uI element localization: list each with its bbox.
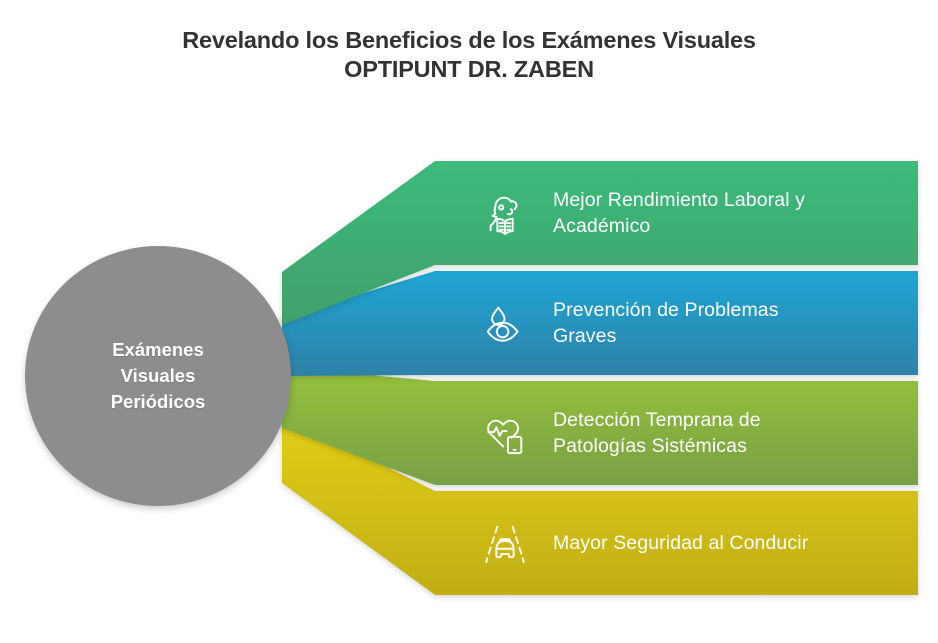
branch-item-2[interactable]: Prevención de Problemas Graves [435, 271, 918, 375]
center-circle[interactable]: Exámenes Visuales Periódicos [25, 246, 291, 506]
eye-droplet-icon [482, 300, 528, 346]
branch-item-3[interactable]: Detección Temprana de Patologías Sistémi… [435, 381, 918, 485]
car-road-icon [482, 520, 528, 566]
branch-label-2: Prevención de Problemas Graves [553, 297, 779, 349]
branch-item-4[interactable]: Mayor Seguridad al Conducir [435, 491, 918, 595]
funnel-diagram: Exámenes Visuales Periódicos Mejor Rendi… [0, 0, 938, 643]
branch-item-1[interactable]: Mejor Rendimiento Laboral y Académico [435, 161, 918, 265]
branch-label-3: Detección Temprana de Patologías Sistémi… [553, 407, 761, 459]
branch-label-1: Mejor Rendimiento Laboral y Académico [553, 187, 805, 239]
center-circle-label: Exámenes Visuales Periódicos [111, 337, 206, 415]
heart-pulse-device-icon [482, 410, 528, 456]
branch-label-4: Mayor Seguridad al Conducir [553, 530, 808, 556]
person-reading-book-icon [482, 190, 528, 236]
